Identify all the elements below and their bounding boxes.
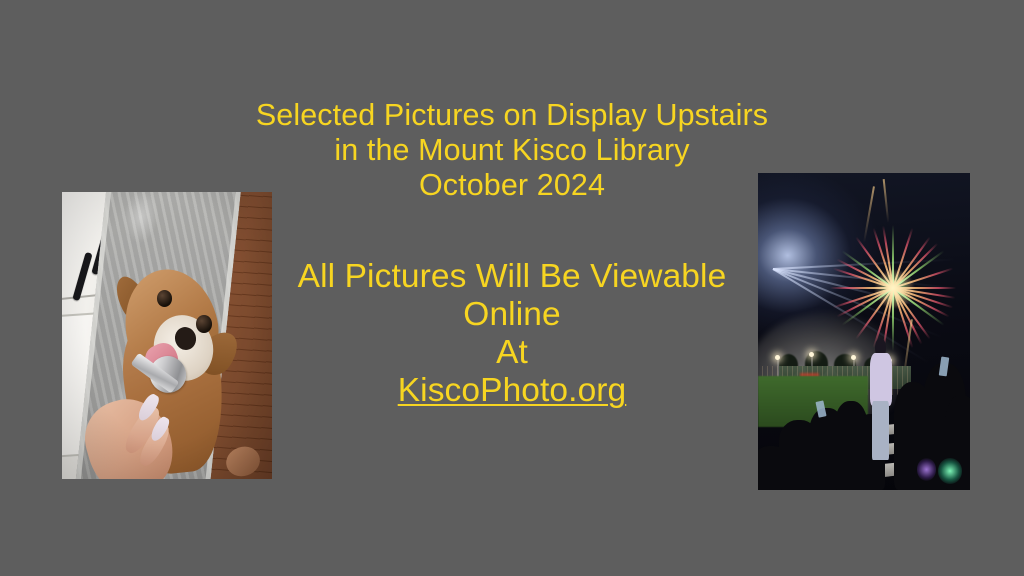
- spectator-jeans: [872, 401, 889, 459]
- photo-fireworks-crowd[interactable]: [758, 173, 970, 490]
- fireworks-photo-artwork: [758, 173, 970, 490]
- stadium-light: [775, 355, 780, 360]
- headline-line-1: Selected Pictures on Display Upstairs: [0, 98, 1024, 133]
- dog-photo-artwork: [62, 192, 272, 479]
- photo-dog-licking-spoon[interactable]: [62, 192, 272, 479]
- headline-line-2: in the Mount Kisco Library: [0, 133, 1024, 168]
- kiscophoto-link[interactable]: KiscoPhoto.org: [398, 372, 627, 409]
- standing-spectator: [868, 338, 893, 465]
- green-glow-light: [938, 458, 961, 483]
- photo-vignette: [62, 192, 272, 479]
- purple-glow-light: [917, 458, 936, 480]
- spectator-jacket: [870, 353, 891, 406]
- slide-canvas: Selected Pictures on Display Upstairs in…: [0, 0, 1024, 576]
- stadium-light: [809, 352, 814, 357]
